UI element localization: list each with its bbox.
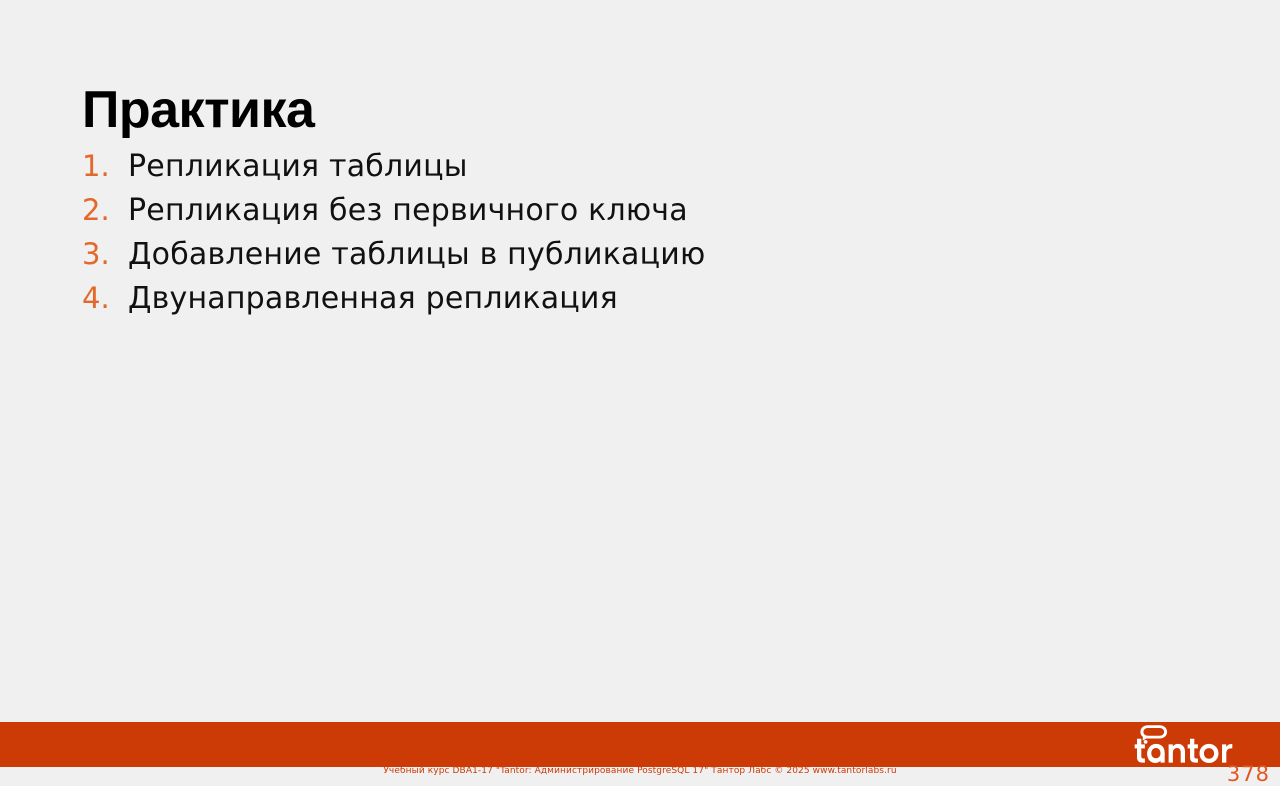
list-item: 3. Добавление таблицы в публикацию (82, 232, 1082, 276)
tantor-logo (1134, 722, 1262, 767)
list-item: 4. Двунаправленная репликация (82, 276, 1082, 320)
list-item-number: 4. (82, 276, 128, 320)
list-item-number: 1. (82, 144, 128, 188)
page-number: 378 (1227, 762, 1270, 786)
practice-task-list: 1. Репликация таблицы 2. Репликация без … (82, 144, 1082, 320)
list-item-label: Двунаправленная репликация (128, 277, 618, 321)
list-item: 1. Репликация таблицы (82, 144, 1082, 188)
footer-credit-text: Учебный курс DBA1-17 "Tantor: Администри… (0, 766, 1280, 776)
list-item-label: Репликация без первичного ключа (128, 189, 688, 233)
list-item-number: 2. (82, 188, 128, 232)
list-item-label: Добавление таблицы в публикацию (128, 233, 705, 277)
slide-root: Практика 1. Репликация таблицы 2. Реплик… (0, 0, 1280, 781)
page-title: Практика (82, 83, 314, 138)
list-item-number: 3. (82, 232, 128, 276)
footer-accent-bar (0, 722, 1280, 767)
tantor-elephant-bubble-icon (1134, 722, 1262, 767)
list-item: 2. Репликация без первичного ключа (82, 188, 1082, 232)
list-item-label: Репликация таблицы (128, 145, 468, 189)
